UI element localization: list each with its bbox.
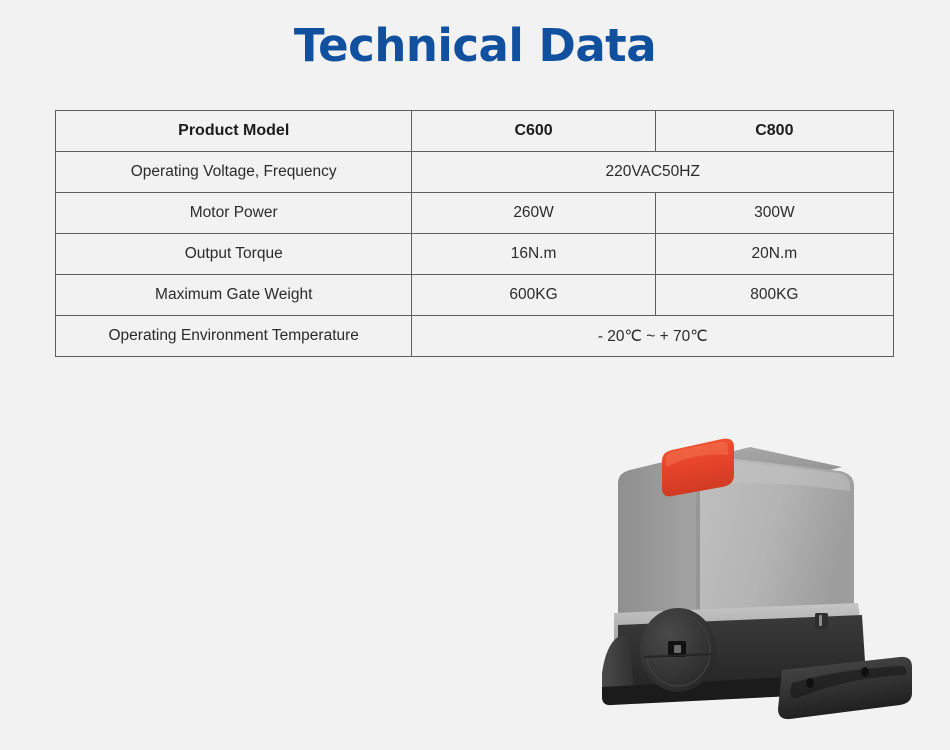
side-latch-pin [819,615,822,626]
table-row: Motor Power 260W 300W [56,193,894,234]
table-row: Operating Environment Temperature - 20℃ … [56,316,894,357]
row-value-operating-voltage: 220VAC50HZ [412,152,894,193]
row-value-max-gate-weight-c800: 800KG [655,275,893,316]
column-header-product-model: Product Model [56,111,412,152]
row-value-operating-temperature: - 20℃ ~ + 70℃ [412,316,894,357]
mounting-screw-hole-right [861,667,869,677]
row-label-operating-voltage: Operating Voltage, Frequency [56,152,412,193]
row-value-output-torque-c600: 16N.m [412,234,655,275]
row-value-motor-power-c600: 260W [412,193,655,234]
row-value-motor-power-c800: 300W [655,193,893,234]
sliding-gate-opener-illustration [600,425,930,725]
table-header-row: Product Model C600 C800 [56,111,894,152]
page-title: Technical Data [0,18,950,74]
row-label-operating-temperature: Operating Environment Temperature [56,316,412,357]
row-label-max-gate-weight: Maximum Gate Weight [56,275,412,316]
table-row: Output Torque 16N.m 20N.m [56,234,894,275]
row-value-max-gate-weight-c600: 600KG [412,275,655,316]
technical-data-table: Product Model C600 C800 Operating Voltag… [55,110,894,350]
row-label-motor-power: Motor Power [56,193,412,234]
table-row: Maximum Gate Weight 600KG 800KG [56,275,894,316]
cover-seam [696,469,700,629]
table-row: Operating Voltage, Frequency 220VAC50HZ [56,152,894,193]
row-label-output-torque: Output Torque [56,234,412,275]
keyhole-slot [674,645,681,653]
column-header-c800: C800 [655,111,893,152]
row-value-output-torque-c800: 20N.m [655,234,893,275]
product-photo-sliding-gate-opener [600,425,930,725]
column-header-c600: C600 [412,111,655,152]
mounting-screw-hole-left [806,678,814,688]
